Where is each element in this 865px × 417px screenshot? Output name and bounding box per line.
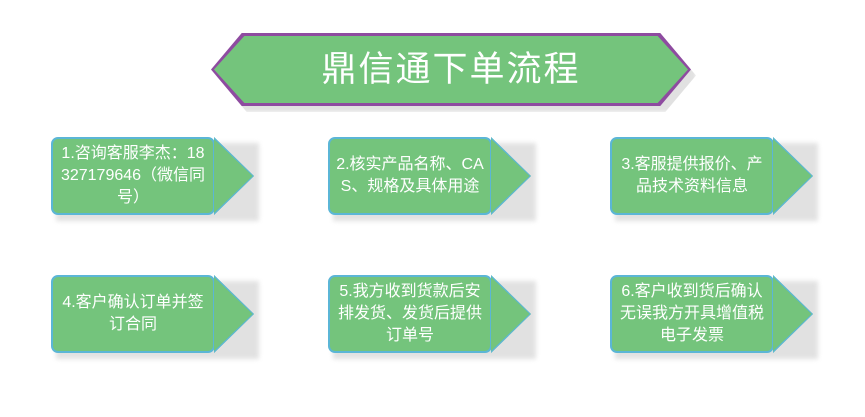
flowchart-step-1[interactable]: 1.咨询客服李杰：18327179646（微信同号） [51, 137, 254, 215]
step-5-label: 5.我方收到货款后安排发货、发货后提供订单号 [328, 275, 492, 353]
flowchart-step-5[interactable]: 5.我方收到货款后安排发货、发货后提供订单号 [328, 275, 531, 353]
step-6-label: 6.客户收到货后确认无误我方开具增值税电子发票 [610, 275, 774, 353]
flowchart-step-2[interactable]: 2.核实产品名称、CAS、规格及具体用途 [328, 137, 531, 215]
step-3-label: 3.客服提供报价、产品技术资料信息 [610, 137, 774, 215]
flowchart-title-banner: 鼎信通下单流程 [211, 33, 691, 106]
step-1-label: 1.咨询客服李杰：18327179646（微信同号） [51, 137, 215, 215]
step-2-label: 2.核实产品名称、CAS、规格及具体用途 [328, 137, 492, 215]
step-4-label: 4.客户确认订单并签订合同 [51, 275, 215, 353]
flowchart-step-4[interactable]: 4.客户确认订单并签订合同 [51, 275, 254, 353]
flowchart-step-3[interactable]: 3.客服提供报价、产品技术资料信息 [610, 137, 813, 215]
flowchart-canvas: 鼎信通下单流程 1.咨询客服李杰：18327179646（微信同号） 2.核实产… [0, 0, 865, 417]
flowchart-step-6[interactable]: 6.客户收到货后确认无误我方开具增值税电子发票 [610, 275, 813, 353]
flowchart-title-text: 鼎信通下单流程 [211, 33, 691, 106]
